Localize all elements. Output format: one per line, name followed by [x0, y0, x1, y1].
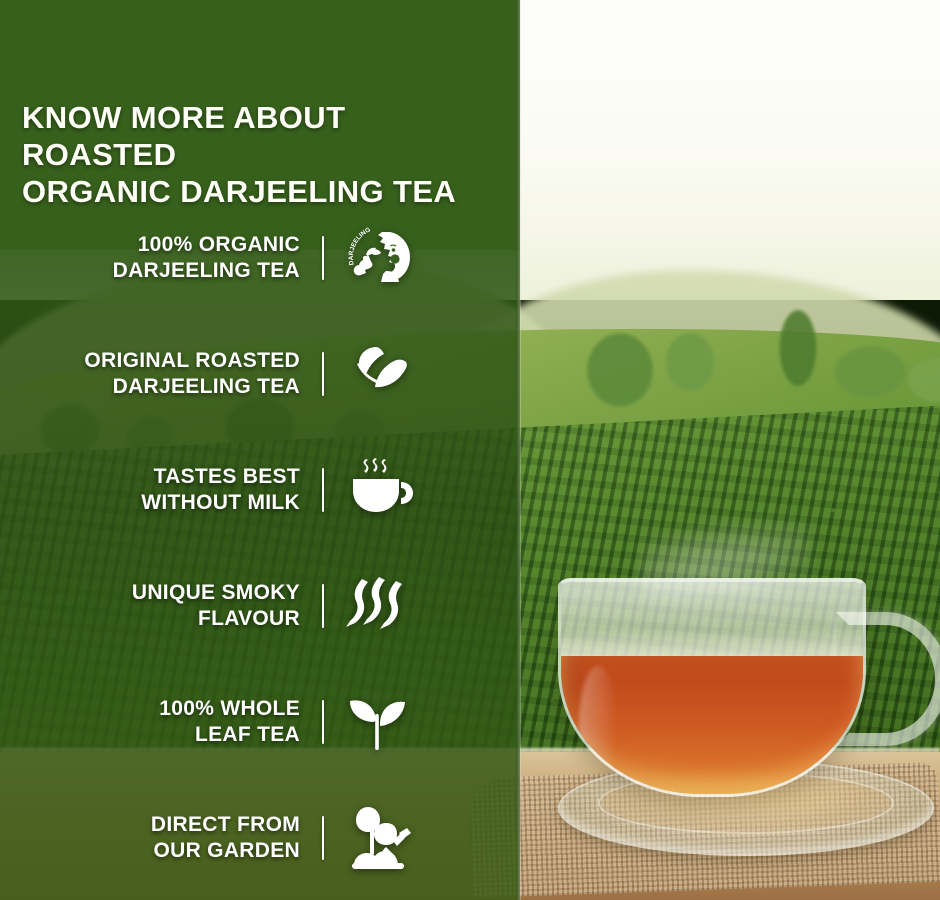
infographic-poster: KNOW MORE ABOUT ROASTEDORGANIC DARJEELIN… [0, 0, 940, 900]
cup-upper-glass [561, 582, 863, 660]
title-line1-bold: ROASTED [22, 137, 176, 172]
feature-label: UNIQUE SMOKY FLAVOUR [0, 580, 300, 632]
feature-list: 100% ORGANIC DARJEELING TEA DARJEELING [0, 200, 520, 896]
two-leaf-sprout-icon [346, 692, 456, 752]
feature-label: 100% WHOLE LEAF TEA [0, 696, 300, 748]
list-item: DIRECT FROM OUR GARDEN [0, 780, 520, 896]
feature-label: ORIGINAL ROASTED DARJEELING TEA [0, 348, 300, 400]
darjeeling-certification-logo-icon: DARJEELING [346, 222, 456, 294]
title-line1-light: KNOW MORE ABOUT [22, 100, 345, 135]
feature-label: DIRECT FROM OUR GARDEN [0, 812, 300, 864]
glass-highlight [579, 666, 617, 784]
feature-divider [300, 816, 346, 860]
glass-teacup [558, 578, 866, 797]
seedling-with-trowel-icon [346, 805, 456, 871]
list-item: 100% ORGANIC DARJEELING TEA DARJEELING [0, 200, 520, 316]
feature-divider [300, 468, 346, 512]
feature-label: TASTES BEST WITHOUT MILK [0, 464, 300, 516]
list-item: 100% WHOLE LEAF TEA [0, 664, 520, 780]
list-item: UNIQUE SMOKY FLAVOUR [0, 548, 520, 664]
feature-divider [300, 584, 346, 628]
smoke-wisps-icon [346, 575, 456, 637]
feature-divider [300, 700, 346, 744]
feature-divider [300, 236, 346, 280]
content-layer: KNOW MORE ABOUT ROASTEDORGANIC DARJEELIN… [0, 0, 520, 900]
page-title: KNOW MORE ABOUT ROASTEDORGANIC DARJEELIN… [22, 99, 500, 210]
list-item: TASTES BEST WITHOUT MILK [0, 432, 520, 548]
steaming-teacup-icon [346, 457, 456, 523]
feature-divider [300, 352, 346, 396]
list-item: ORIGINAL ROASTED DARJEELING TEA [0, 316, 520, 432]
feature-label: 100% ORGANIC DARJEELING TEA [0, 232, 300, 284]
tea-leaf-sprig-icon [346, 344, 456, 404]
